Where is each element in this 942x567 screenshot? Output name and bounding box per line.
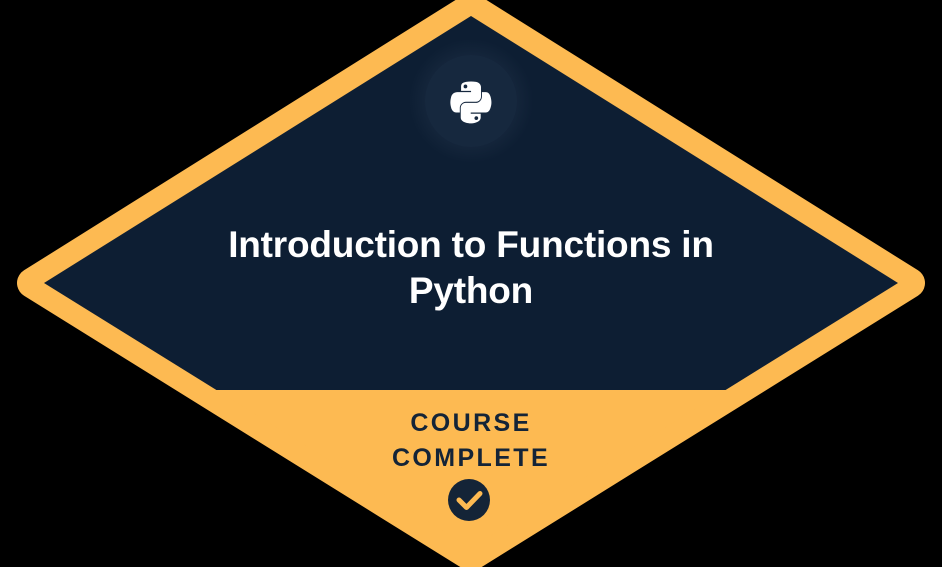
- diamond-badge-graphic: [0, 0, 942, 567]
- check-circle-background: [448, 479, 490, 521]
- check-circle-icon: [448, 479, 490, 521]
- badge-orange-panel: [0, 390, 942, 567]
- badge-canvas: Introduction to Functions in Python COUR…: [0, 0, 942, 567]
